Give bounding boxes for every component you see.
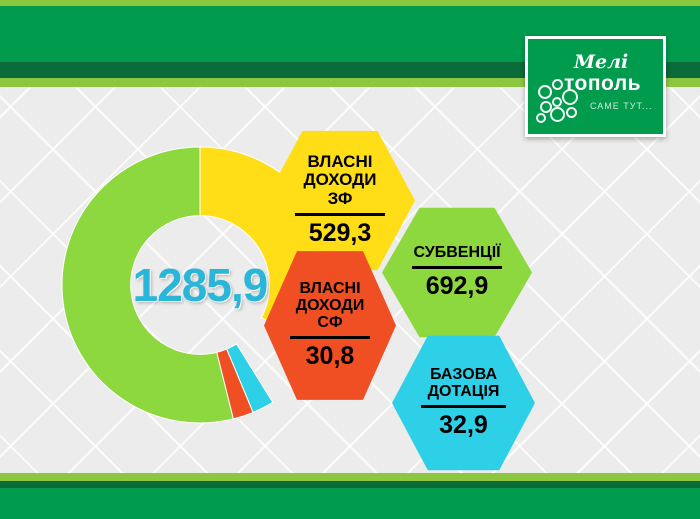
callout-bazova-value: 32,9 bbox=[439, 411, 488, 440]
callout-sf-label-1: ВЛАСНІ bbox=[299, 280, 360, 297]
logo-line2: тополь bbox=[564, 72, 641, 96]
callout-subvencii-label: СУБВЕНЦІЇ bbox=[413, 244, 500, 261]
footer-green-strip bbox=[0, 488, 700, 519]
footer-light-strip bbox=[0, 473, 700, 481]
callout-sf-value: 30,8 bbox=[306, 342, 355, 371]
callout-sf-divider bbox=[290, 336, 369, 339]
callout-zf-label-2: ДОХОДИ bbox=[304, 171, 377, 189]
callout-bazova-label-2: ДОТАЦІЯ bbox=[428, 383, 500, 400]
melitopol-logo: Мелі тополь САМЕ ТУТ... bbox=[525, 36, 666, 137]
callout-zf-value: 529,3 bbox=[309, 219, 372, 248]
callout-sf-label-3: СФ bbox=[317, 314, 342, 331]
callout-bazova-divider bbox=[421, 405, 507, 408]
callout-zf-label-1: ВЛАСНІ bbox=[308, 153, 373, 171]
footer-dark-strip bbox=[0, 481, 700, 488]
total-revenue-value: 1285,9 bbox=[133, 258, 268, 312]
callout-zf-divider bbox=[295, 213, 385, 216]
logo-line1: Мелі bbox=[574, 51, 628, 73]
callout-subvencii-value: 692,9 bbox=[426, 272, 489, 301]
callout-zf-label-3: ЗФ bbox=[328, 190, 353, 208]
footer-band bbox=[0, 473, 700, 519]
callout-bazova-label-1: БАЗОВА bbox=[430, 366, 497, 383]
callout-subvencii-divider bbox=[412, 266, 502, 269]
callout-sf-label-2: ДОХОДИ bbox=[296, 297, 365, 314]
logo-tagline: САМЕ ТУТ... bbox=[590, 101, 653, 111]
